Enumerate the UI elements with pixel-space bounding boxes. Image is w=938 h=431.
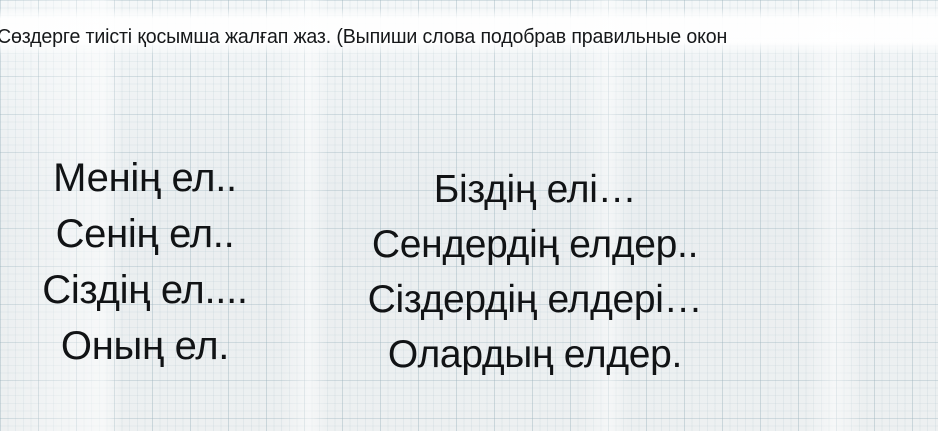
answer-line: Оның ел. — [0, 318, 290, 374]
slide-canvas: Сөздерге тиісті қосымша жалғап жаз. (Вып… — [0, 0, 938, 431]
answer-line: Сіздердің елдері… — [310, 272, 760, 327]
answer-line: Олардың елдер. — [310, 327, 760, 382]
answer-column-left: Менің ел.. Сенің ел.. Сіздің ел.... Оның… — [0, 150, 290, 374]
answer-line: Сенің ел.. — [0, 206, 290, 262]
task-instruction-text: Сөздерге тиісті қосымша жалғап жаз. (Вып… — [0, 25, 938, 49]
answer-column-right: Біздің елі… Сендердің елдер.. Сіздердің … — [310, 162, 760, 382]
answer-line: Сендердің елдер.. — [310, 217, 760, 272]
task-instruction-band: Сөздерге тиісті қосымша жалғап жаз. (Вып… — [0, 8, 938, 56]
answer-line: Біздің елі… — [310, 162, 760, 217]
answer-columns: Менің ел.. Сенің ел.. Сіздің ел.... Оның… — [0, 150, 938, 420]
answer-line: Менің ел.. — [0, 150, 290, 206]
answer-line: Сіздің ел.... — [0, 262, 290, 318]
